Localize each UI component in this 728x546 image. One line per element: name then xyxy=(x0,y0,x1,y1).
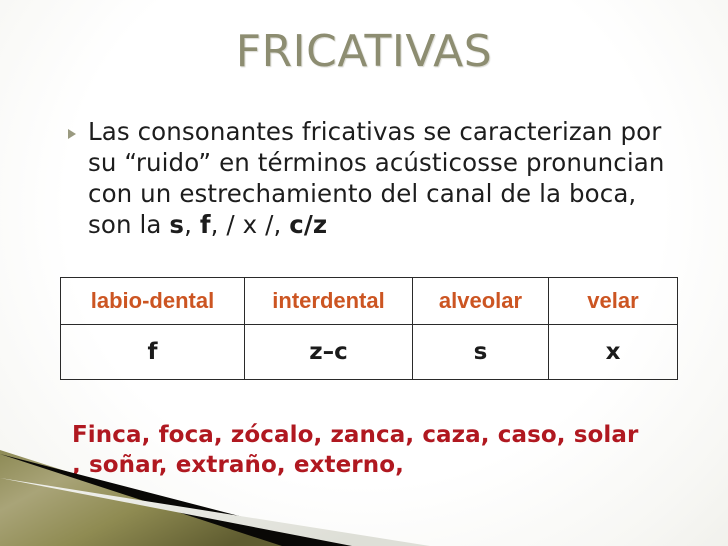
page-title: FRICATIVAS xyxy=(0,26,728,77)
table-header-interdental: interdental xyxy=(245,278,413,325)
separator-2: , xyxy=(211,210,227,239)
table-cell-alveolar: s xyxy=(413,325,549,380)
articulation-table: labio-dental interdental alveolar velar … xyxy=(60,277,678,380)
separator-1: , xyxy=(184,210,200,239)
example-line-2: , soñar, extraño, externo, xyxy=(72,450,712,480)
phoneme-f: f xyxy=(200,210,211,239)
slide-canvas: FRICATIVAS Las consonantes fricativas se… xyxy=(0,0,728,546)
triangle-right-bullet-icon xyxy=(66,116,88,140)
phoneme-x-slashes: / x /, xyxy=(226,210,289,239)
table-cell-velar: x xyxy=(549,325,678,380)
body-content: Las consonantes fricativas se caracteriz… xyxy=(66,116,686,240)
table-cell-interdental: z–c xyxy=(245,325,413,380)
table-header-alveolar: alveolar xyxy=(413,278,549,325)
example-line-1: Finca, foca, zócalo, zanca, caza, caso, … xyxy=(72,420,712,450)
body-line-1: Las consonantes fricativas se caracteriz… xyxy=(88,117,613,146)
table-header-row: labio-dental interdental alveolar velar xyxy=(61,278,678,325)
table-header-labio-dental: labio-dental xyxy=(61,278,245,325)
example-words: Finca, foca, zócalo, zanca, caza, caso, … xyxy=(72,420,712,480)
body-paragraph: Las consonantes fricativas se caracteriz… xyxy=(88,116,686,240)
bullet-list-item: Las consonantes fricativas se caracteriz… xyxy=(66,116,686,240)
table-header-velar: velar xyxy=(549,278,678,325)
phoneme-cz: c/z xyxy=(289,210,327,239)
phoneme-s: s xyxy=(169,210,184,239)
table-row: f z–c s x xyxy=(61,325,678,380)
table-cell-labio-dental: f xyxy=(61,325,245,380)
